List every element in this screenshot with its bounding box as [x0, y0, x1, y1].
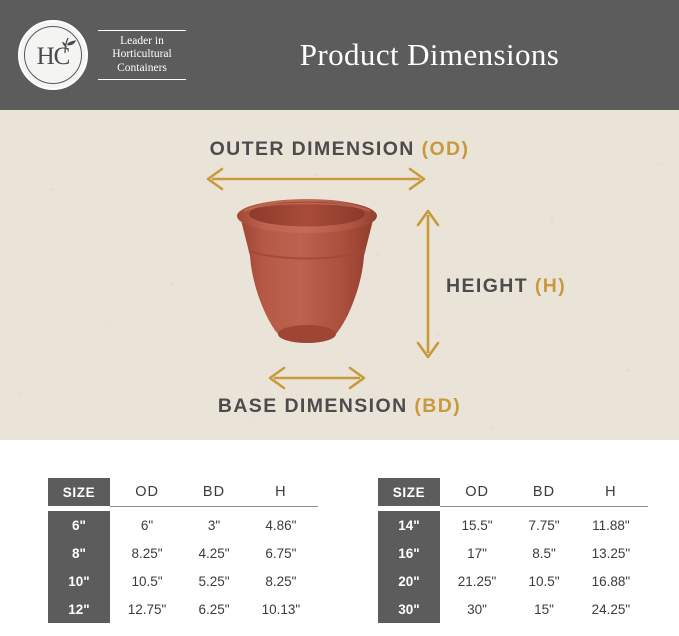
- height-dimension-label: HEIGHT (H): [446, 275, 566, 298]
- cell-size: 20": [378, 567, 440, 595]
- cell-size: 16": [378, 539, 440, 567]
- cell-size: 6": [48, 511, 110, 539]
- column-header-od: OD: [440, 478, 514, 506]
- table-row: 12" 12.75" 6.25" 10.13": [48, 595, 318, 623]
- table-row: 6" 6" 3" 4.86": [48, 511, 318, 539]
- cell-bd: 4.25": [184, 539, 244, 567]
- column-header-size: SIZE: [48, 478, 110, 506]
- cell-h: 16.88": [574, 567, 648, 595]
- cell-od: 17": [440, 539, 514, 567]
- cell-od: 8.25": [110, 539, 184, 567]
- terracotta-planter-pot: [222, 194, 392, 362]
- cell-size: 14": [378, 511, 440, 539]
- cell-bd: 15": [514, 595, 574, 623]
- column-header-size: SIZE: [378, 478, 440, 506]
- dimension-tables: SIZE OD BD H 6" 6" 3" 4.86" 8": [0, 470, 679, 636]
- height-dimension-arrow-icon: [414, 205, 442, 363]
- cell-h: 4.86": [244, 511, 318, 539]
- cell-bd: 5.25": [184, 567, 244, 595]
- cell-bd: 10.5": [514, 567, 574, 595]
- cell-od: 12.75": [110, 595, 184, 623]
- cell-h: 13.25": [574, 539, 648, 567]
- cell-size: 8": [48, 539, 110, 567]
- cell-bd: 3": [184, 511, 244, 539]
- table-row: 20" 21.25" 10.5" 16.88": [378, 567, 648, 595]
- cell-h: 24.25": [574, 595, 648, 623]
- leaf-sprout-icon: [57, 37, 79, 55]
- column-header-bd: BD: [514, 478, 574, 506]
- height-dimension-abbr: (H): [535, 275, 566, 297]
- cell-h: 11.88": [574, 511, 648, 539]
- cell-od: 30": [440, 595, 514, 623]
- base-dimension-text: BASE DIMENSION: [218, 395, 415, 417]
- table-row: 30" 30" 15" 24.25": [378, 595, 648, 623]
- cell-h: 6.75": [244, 539, 318, 567]
- outer-dimension-arrow-icon: [200, 166, 432, 192]
- page-title: Product Dimensions: [0, 0, 679, 110]
- cell-od: 6": [110, 511, 184, 539]
- outer-dimension-abbr: (OD): [422, 138, 470, 160]
- cell-od: 15.5": [440, 511, 514, 539]
- table-row: 14" 15.5" 7.75" 11.88": [378, 511, 648, 539]
- cell-od: 21.25": [440, 567, 514, 595]
- outer-dimension-text: OUTER DIMENSION: [210, 138, 422, 160]
- dimension-table-large: SIZE OD BD H 14" 15.5" 7.75" 11.88": [378, 478, 648, 623]
- cell-bd: 8.5": [514, 539, 574, 567]
- cell-size: 10": [48, 567, 110, 595]
- base-dimension-label: BASE DIMENSION (BD): [0, 395, 679, 418]
- table-row: 8" 8.25" 4.25" 6.75": [48, 539, 318, 567]
- cell-h: 8.25": [244, 567, 318, 595]
- column-header-od: OD: [110, 478, 184, 506]
- outer-dimension-label: OUTER DIMENSION (OD): [0, 138, 679, 161]
- table-row: 16" 17" 8.5" 13.25": [378, 539, 648, 567]
- column-header-h: H: [244, 478, 318, 506]
- table-header-row: SIZE OD BD H: [48, 478, 318, 506]
- cell-size: 30": [378, 595, 440, 623]
- height-dimension-text: HEIGHT: [446, 275, 535, 297]
- dimension-table-small: SIZE OD BD H 6" 6" 3" 4.86" 8": [48, 478, 318, 623]
- product-dimensions-infographic: HC Leader in Horticultural Containers Pr…: [0, 0, 679, 636]
- base-dimension-arrow-icon: [262, 365, 372, 391]
- cell-bd: 6.25": [184, 595, 244, 623]
- column-header-h: H: [574, 478, 648, 506]
- column-header-bd: BD: [184, 478, 244, 506]
- cell-bd: 7.75": [514, 511, 574, 539]
- base-dimension-abbr: (BD): [414, 395, 461, 417]
- cell-size: 12": [48, 595, 110, 623]
- cell-od: 10.5": [110, 567, 184, 595]
- cell-h: 10.13": [244, 595, 318, 623]
- table-row: 10" 10.5" 5.25" 8.25": [48, 567, 318, 595]
- table-header-row: SIZE OD BD H: [378, 478, 648, 506]
- header-bar: HC Leader in Horticultural Containers Pr…: [0, 0, 679, 110]
